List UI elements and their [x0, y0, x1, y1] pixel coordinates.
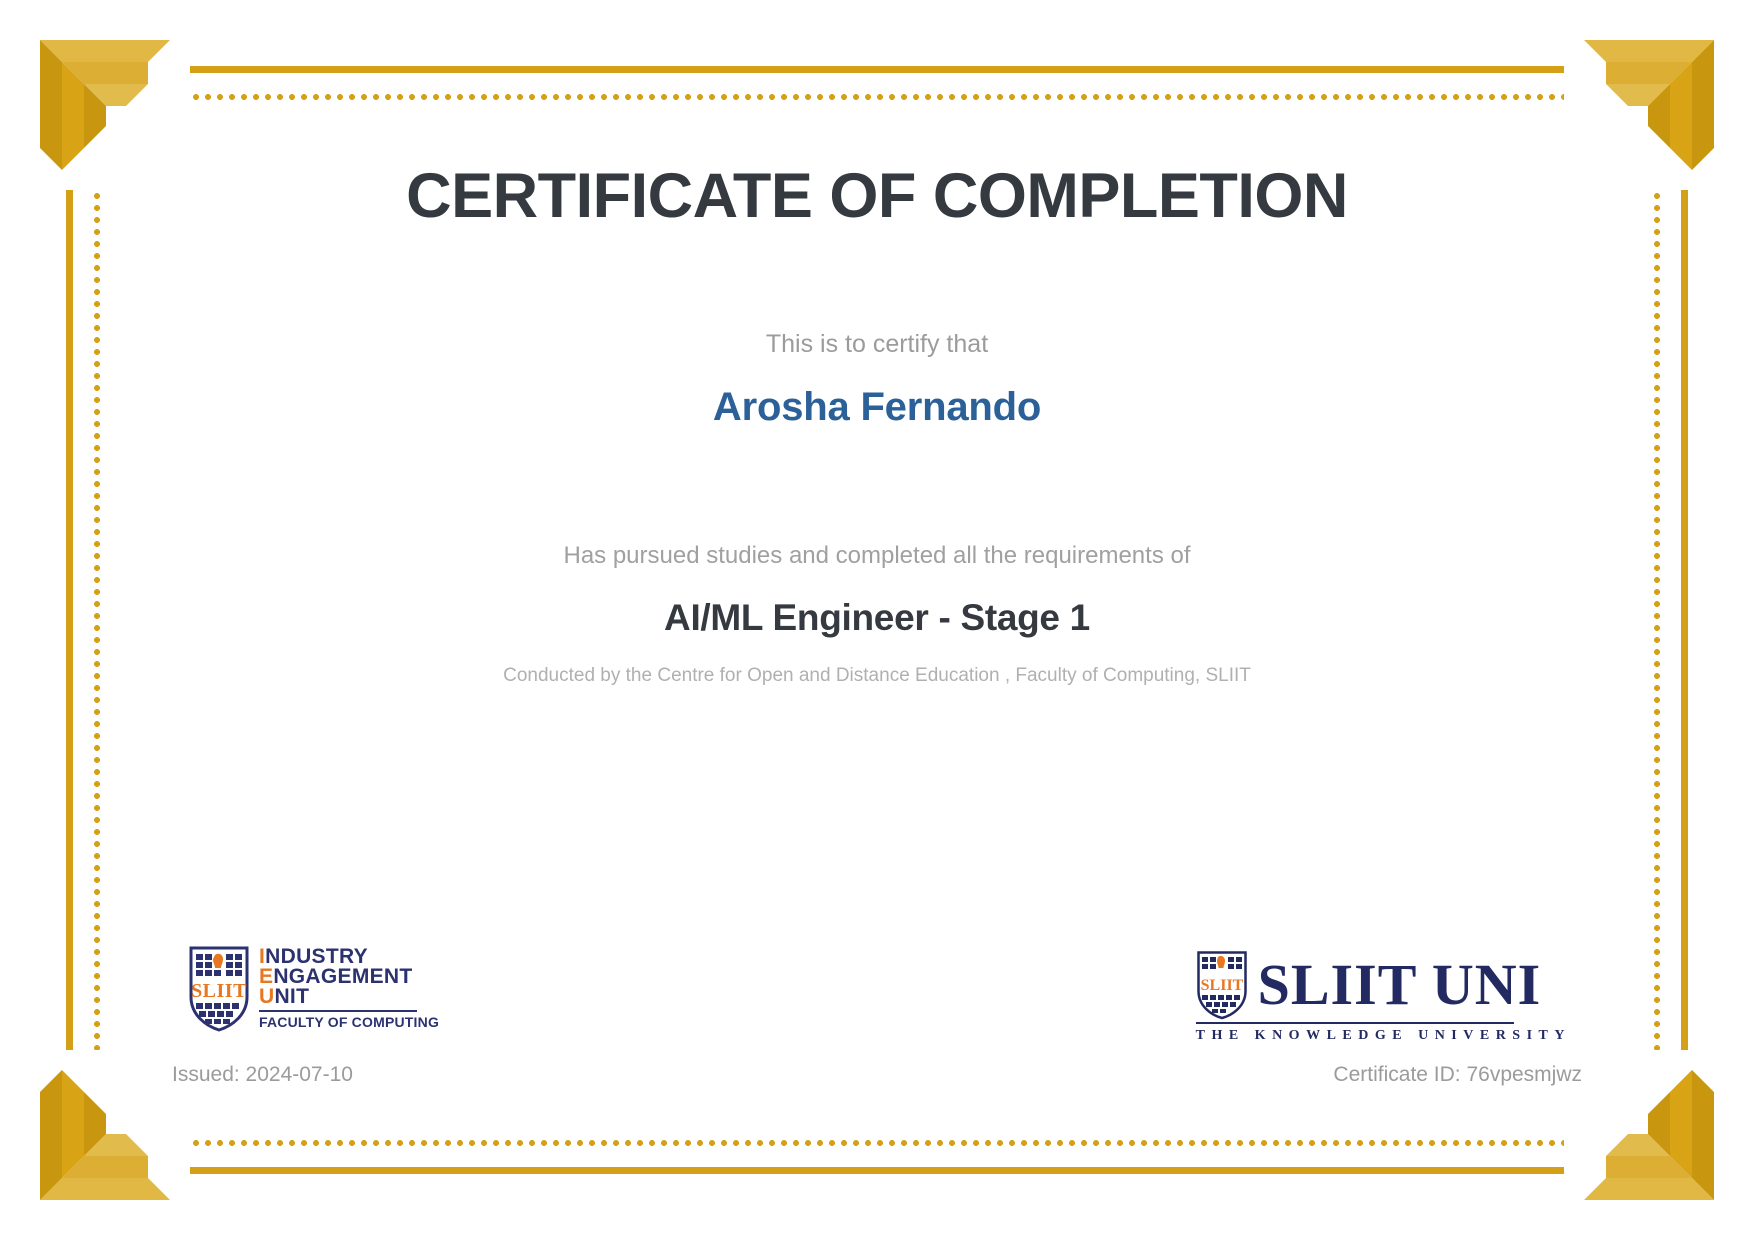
certificate-document: CERTIFICATE OF COMPLETION This is to cer… — [0, 0, 1754, 1240]
ieu-faculty-label: FACULTY OF COMPUTING — [259, 1014, 439, 1030]
requirements-statement: Has pursued studies and completed all th… — [0, 542, 1754, 570]
sliit-uni-divider — [1196, 1022, 1514, 1024]
course-name: AI/ML Engineer - Stage 1 — [0, 597, 1754, 639]
svg-text:SLIIT: SLIIT — [1200, 977, 1243, 994]
ieu-rest-unit: NIT — [274, 985, 309, 1008]
sliit-uni-shield-icon: SLIIT — [1196, 950, 1248, 1020]
certificate-content: CERTIFICATE OF COMPLETION This is to cer… — [0, 0, 1754, 1240]
ieu-wordmark: INDUSTRY ENGAGEMENT UNIT FACULTY OF COMP… — [259, 945, 439, 1030]
sliit-uni-wordmark: SLIIT UNI — [1258, 956, 1542, 1014]
conducted-by-statement: Conducted by the Centre for Open and Dis… — [0, 665, 1754, 687]
ieu-initial-u: U — [259, 985, 274, 1008]
svg-text:SLIIT: SLIIT — [191, 980, 247, 1002]
ieu-line-unit: UNIT — [259, 987, 439, 1007]
ieu-divider — [259, 1010, 417, 1012]
sliit-uni-wordmark-row: SLIIT SLIIT UNI — [1196, 950, 1542, 1020]
logo-sliit-uni: SLIIT SLIIT UNI — [1196, 950, 1571, 1044]
sliit-uni-tagline: THE KNOWLEDGE UNIVERSITY — [1196, 1028, 1571, 1044]
recipient-name: Arosha Fernando — [0, 385, 1754, 430]
logo-industry-engagement-unit: SLIIT INDUSTRY ENGAGEMENT UNIT — [188, 945, 439, 1033]
certificate-id: Certificate ID: 76vpesmjwz — [1333, 1063, 1582, 1087]
page-title: CERTIFICATE OF COMPLETION — [0, 160, 1754, 232]
issued-date: Issued: 2024-07-10 — [172, 1063, 353, 1087]
ieu-line-engagement: ENGAGEMENT — [259, 967, 439, 987]
sliit-shield-icon: SLIIT — [188, 945, 250, 1033]
sliit-uni-text-stack: SLIIT UNI — [1248, 956, 1542, 1014]
certify-statement: This is to certify that — [0, 330, 1754, 359]
ieu-line-industry: INDUSTRY — [259, 947, 439, 967]
